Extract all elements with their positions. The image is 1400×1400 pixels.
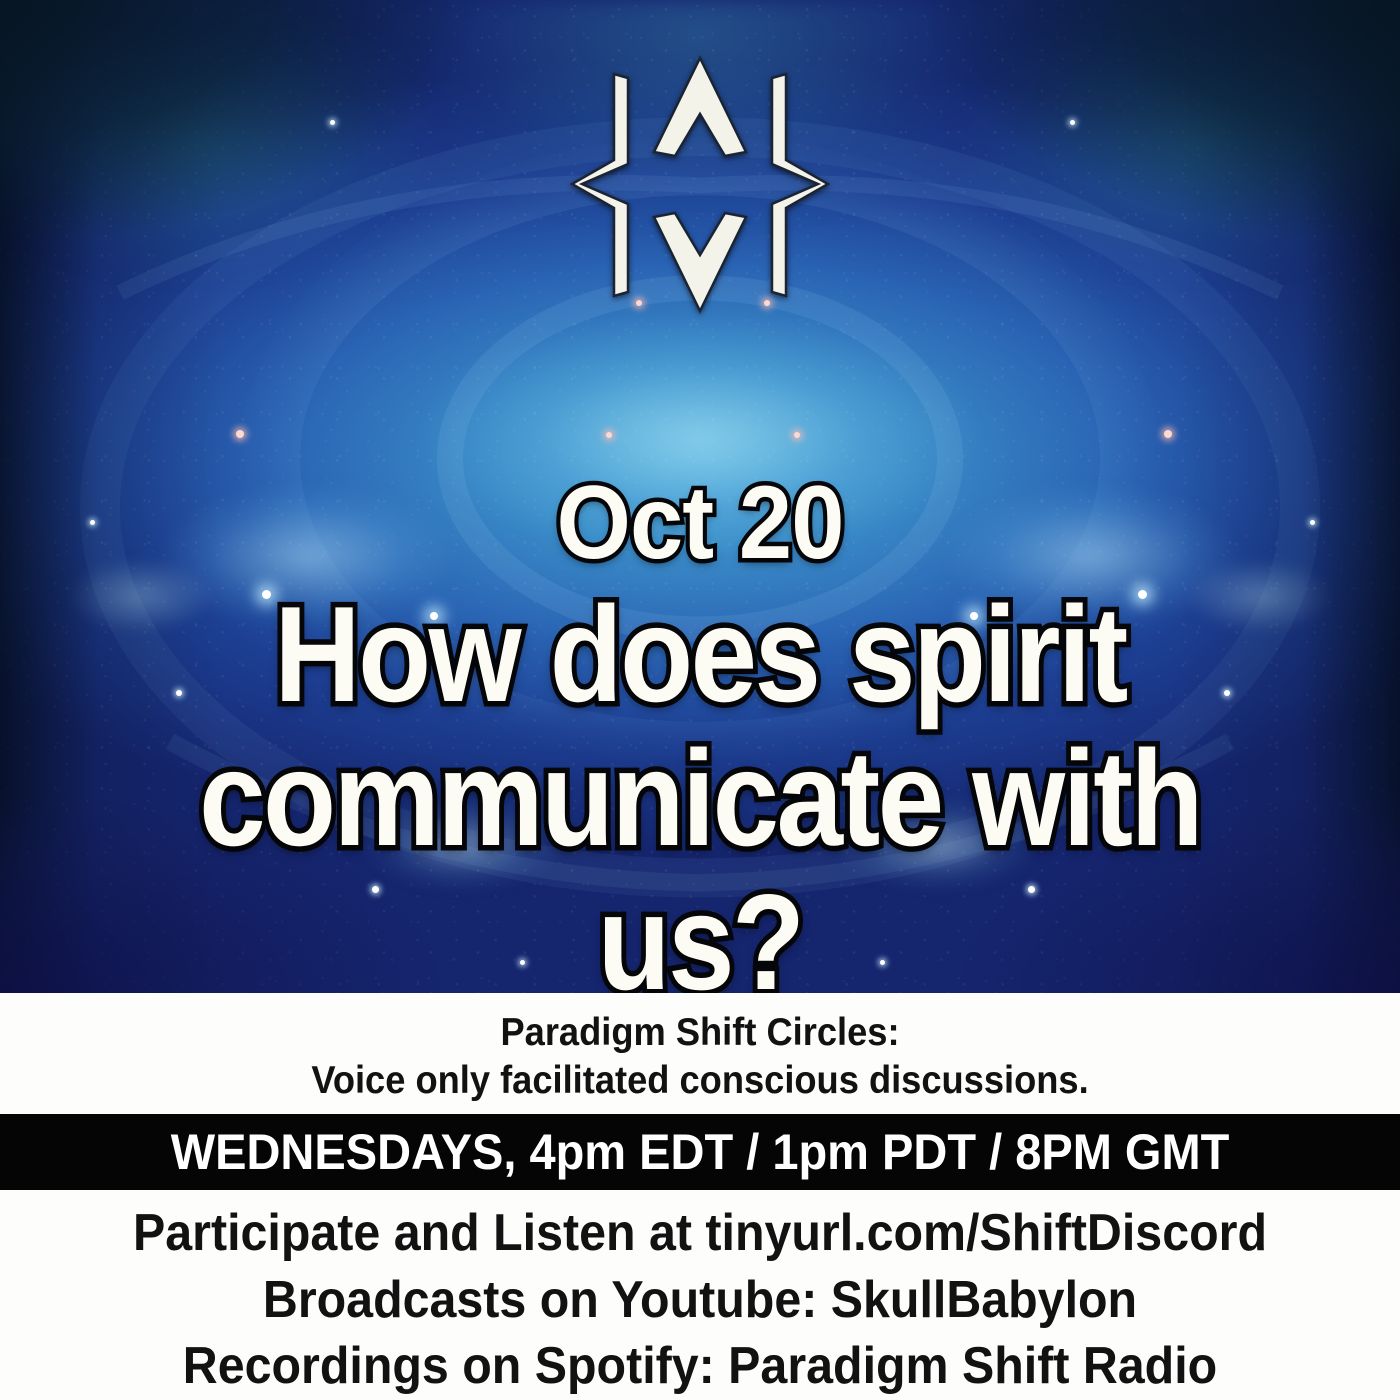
schedule-text: WEDNESDAYS, 4pm EDT / 1pm PDT / 8PM GMT — [171, 1123, 1230, 1181]
youtube-channel-line[interactable]: Broadcasts on Youtube: SkullBabylon — [49, 1267, 1351, 1334]
headline-line-2: communicate with us? — [105, 726, 1295, 993]
up-arrow-icon — [654, 58, 746, 156]
series-title: Paradigm Shift Circles: — [49, 1009, 1351, 1057]
event-headline: How does spirit communicate with us? — [105, 582, 1295, 993]
series-description: Paradigm Shift Circles: Voice only facil… — [0, 993, 1400, 1114]
hero-text-block: Oct 20 How does spirit communicate with … — [0, 470, 1400, 993]
participate-link-line[interactable]: Participate and Listen at tinyurl.com/Sh… — [49, 1200, 1351, 1267]
nebula-hero-image: Oct 20 How does spirit communicate with … — [0, 0, 1400, 993]
schedule-bar: WEDNESDAYS, 4pm EDT / 1pm PDT / 8PM GMT — [0, 1114, 1400, 1190]
event-date: Oct 20 — [78, 470, 1322, 576]
down-arrow-icon — [654, 213, 746, 311]
listen-info-block: Participate and Listen at tinyurl.com/Sh… — [0, 1190, 1400, 1400]
paradigm-shift-logo — [570, 52, 830, 317]
right-arrow-icon — [772, 74, 828, 296]
series-subtitle: Voice only facilitated conscious discuss… — [49, 1057, 1351, 1105]
left-arrow-icon — [572, 74, 628, 296]
event-flyer: Oct 20 How does spirit communicate with … — [0, 0, 1400, 1400]
headline-line-1: How does spirit — [105, 582, 1295, 726]
spotify-show-line[interactable]: Recordings on Spotify: Paradigm Shift Ra… — [49, 1333, 1351, 1400]
